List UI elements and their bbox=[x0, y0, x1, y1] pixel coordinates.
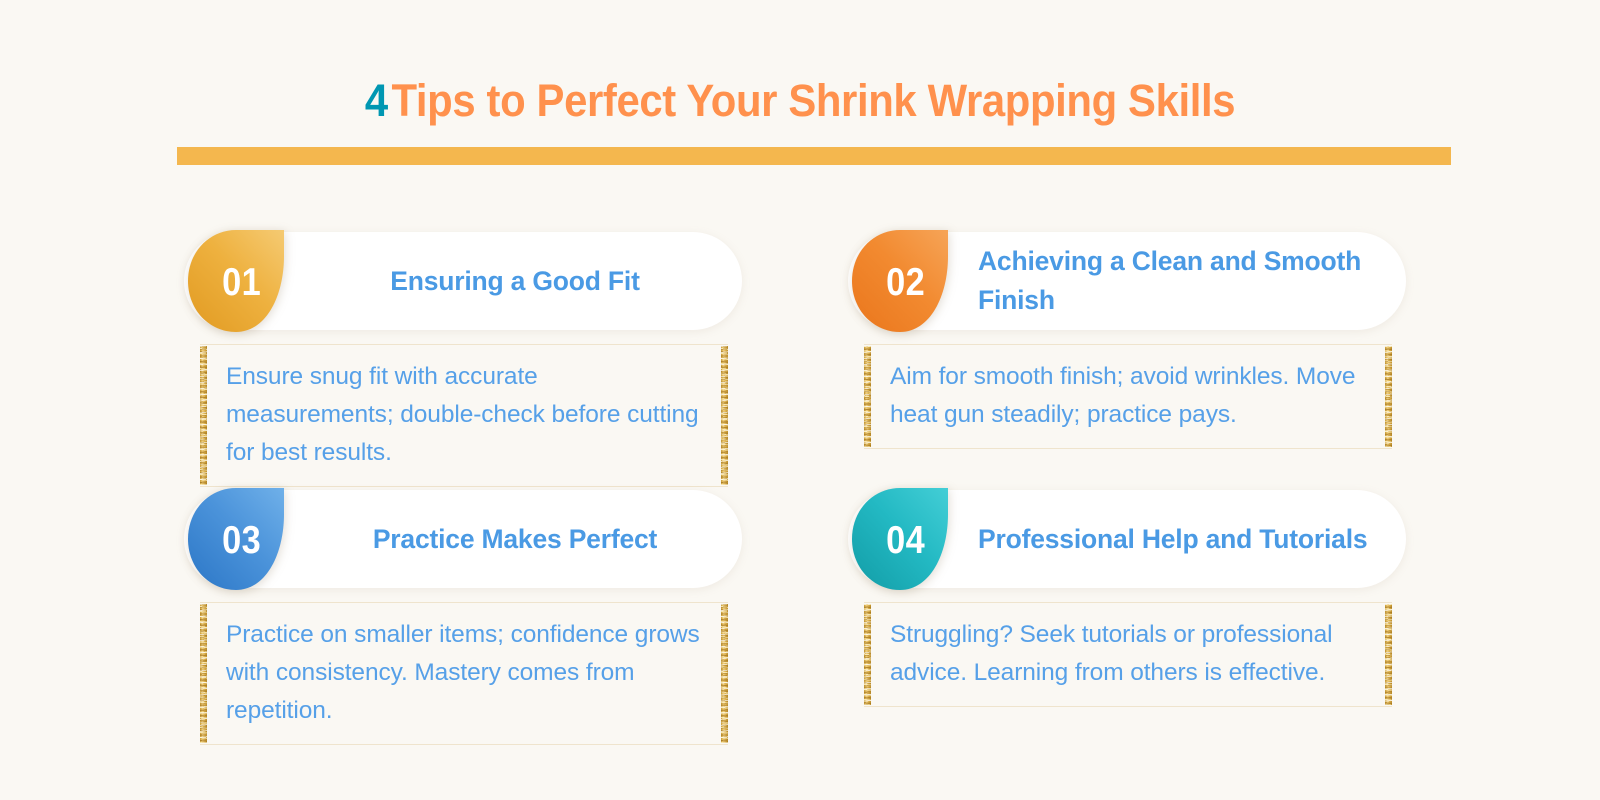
gold-rule-right-icon bbox=[1385, 346, 1392, 447]
gold-rule-left-icon bbox=[200, 604, 207, 743]
page-title-text: Tips to Perfect Your Shrink Wrapping Ski… bbox=[391, 75, 1235, 126]
number-badge-01 bbox=[188, 230, 304, 332]
tip-card-01-description: Ensure snug fit with accurate measuremen… bbox=[200, 345, 728, 486]
page-title: 4Tips to Perfect Your Shrink Wrapping Sk… bbox=[56, 72, 1544, 130]
title-divider bbox=[177, 147, 1451, 165]
tip-card-02-title: Achieving a Clean and Smooth Finish bbox=[974, 232, 1384, 330]
gold-rule-right-icon bbox=[1385, 604, 1392, 705]
tip-card-04[interactable]: 04 Professional Help and Tutorials Strug… bbox=[848, 490, 1406, 588]
tip-card-02-header: 02 Achieving a Clean and Smooth Finish bbox=[848, 232, 1406, 330]
tip-card-03-title: Practice Makes Perfect bbox=[310, 490, 720, 588]
tip-card-04-title: Professional Help and Tutorials bbox=[974, 490, 1384, 588]
tip-card-02-description-box: Aim for smooth finish; avoid wrinkles. M… bbox=[864, 344, 1392, 449]
gold-rule-right-icon bbox=[721, 346, 728, 485]
tip-card-04-header: 04 Professional Help and Tutorials bbox=[848, 490, 1406, 588]
tip-card-03-description-box: Practice on smaller items; confidence gr… bbox=[200, 602, 728, 745]
number-badge-03 bbox=[188, 488, 304, 590]
gold-rule-left-icon bbox=[200, 346, 207, 485]
infographic-page: 4Tips to Perfect Your Shrink Wrapping Sk… bbox=[0, 0, 1600, 800]
number-badge-04 bbox=[852, 488, 968, 590]
tip-card-04-description-box: Struggling? Seek tutorials or profession… bbox=[864, 602, 1392, 707]
tip-card-03[interactable]: 03 Practice Makes Perfect Practice on sm… bbox=[184, 490, 742, 588]
tip-card-01-description-box: Ensure snug fit with accurate measuremen… bbox=[200, 344, 728, 487]
tip-card-02-description: Aim for smooth finish; avoid wrinkles. M… bbox=[864, 345, 1392, 448]
gold-rule-right-icon bbox=[721, 604, 728, 743]
tip-card-04-description: Struggling? Seek tutorials or profession… bbox=[864, 603, 1392, 706]
tip-card-01-title: Ensuring a Good Fit bbox=[310, 232, 720, 330]
tip-card-01[interactable]: 01 Ensuring a Good Fit Ensure snug fit w… bbox=[184, 232, 742, 330]
number-badge-02 bbox=[852, 230, 968, 332]
tip-card-02[interactable]: 02 Achieving a Clean and Smooth Finish A… bbox=[848, 232, 1406, 330]
gold-rule-left-icon bbox=[864, 604, 871, 705]
page-title-number: 4 bbox=[365, 75, 388, 126]
tip-card-01-header: 01 Ensuring a Good Fit bbox=[184, 232, 742, 330]
tip-card-03-description: Practice on smaller items; confidence gr… bbox=[200, 603, 728, 744]
tip-card-03-header: 03 Practice Makes Perfect bbox=[184, 490, 742, 588]
gold-rule-left-icon bbox=[864, 346, 871, 447]
